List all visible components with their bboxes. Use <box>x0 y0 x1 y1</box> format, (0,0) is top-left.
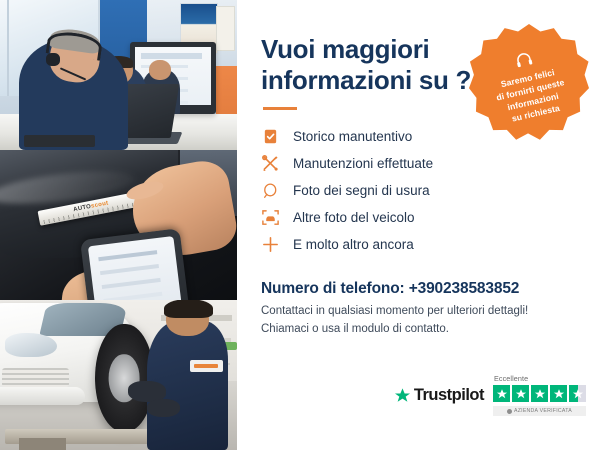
feature-label: Storico manutentivo <box>293 129 412 144</box>
background-worker-two-head <box>149 60 170 80</box>
verified-business-badge: AZIENDA VERIFICATA <box>493 406 586 416</box>
star-filled <box>493 385 510 402</box>
content-panel: Vuoi maggiori informazioni su ? Storico … <box>237 0 600 450</box>
car-grille <box>2 368 68 388</box>
page-title: Vuoi maggiori informazioni su ? <box>261 34 476 96</box>
mechanic-wheel-photo <box>0 300 237 450</box>
verified-check-icon <box>507 409 512 414</box>
phone-number-line[interactable]: Numero di telefono: +390238583852 <box>261 280 576 298</box>
list-item: E molto altro ancora <box>261 231 576 258</box>
feature-label: Manutenzioni effettuate <box>293 156 433 171</box>
feature-label: Foto dei segni di usura <box>293 183 430 198</box>
headset-earcup <box>46 53 60 67</box>
tools-cross-icon <box>261 154 280 173</box>
phone-number[interactable]: +390238583852 <box>409 280 520 297</box>
contact-note-line-1: Contattaci in qualsiasi momento per ulte… <box>261 303 576 321</box>
smartphone-screen <box>88 236 182 300</box>
contact-note-line-2: Chiamaci o usa il modulo di contatto. <box>261 321 576 339</box>
rating-label: Eccellente <box>494 374 528 383</box>
list-item: Foto dei segni di usura <box>261 177 576 204</box>
window-frame <box>7 0 9 96</box>
title-underline-rule <box>263 107 297 110</box>
trustpilot-rating-block: Eccellente <box>493 374 586 416</box>
mechanic-glove-lower <box>147 399 180 417</box>
info-request-banner: AUTOscout <box>0 0 600 450</box>
verified-label: AZIENDA VERIFICATA <box>514 408 572 414</box>
feature-label: E molto altro ancora <box>293 237 414 252</box>
headset-icon <box>512 48 535 71</box>
star-filled <box>531 385 548 402</box>
list-item: Manutenzioni effettuate <box>261 150 576 177</box>
car-wheel <box>95 324 154 432</box>
clipboard-check-icon <box>261 127 280 146</box>
star-rating <box>493 385 586 402</box>
call-center-operators-photo <box>0 0 237 150</box>
car-bumper <box>0 387 85 405</box>
contact-block: Numero di telefono: +390238583852 Contat… <box>261 280 576 339</box>
trustpilot-widget[interactable]: Trustpilot Eccellente <box>394 374 586 416</box>
badge-content: Saremo felici di fornirti queste informa… <box>457 12 600 156</box>
star-half <box>569 385 586 402</box>
vehicle-lift-post <box>19 438 66 450</box>
trustpilot-logo[interactable]: Trustpilot <box>394 386 484 405</box>
car-headlight <box>5 333 57 357</box>
star-filled <box>512 385 529 402</box>
mechanic-hair <box>164 300 214 318</box>
wall-poster-secondary <box>216 6 235 51</box>
list-item: Altre foto del veicolo <box>261 204 576 231</box>
star-filled <box>550 385 567 402</box>
uniform-logo-patch <box>190 360 223 372</box>
photo-column: AUTOscout <box>0 0 237 450</box>
callout-badge: Saremo felici di fornirti queste informa… <box>469 24 589 144</box>
plus-icon <box>261 235 280 254</box>
phone-label: Numero di telefono: <box>261 280 405 297</box>
feature-label: Altre foto del veicolo <box>293 210 415 225</box>
smartphone <box>80 228 189 300</box>
trustpilot-wordmark: Trustpilot <box>414 386 484 405</box>
car-inspection-ruler-photo: AUTOscout <box>0 150 237 300</box>
keyboard <box>24 135 95 147</box>
car-scan-icon <box>261 208 280 227</box>
trustpilot-star-icon <box>394 387 411 404</box>
magnifier-icon <box>261 181 280 200</box>
